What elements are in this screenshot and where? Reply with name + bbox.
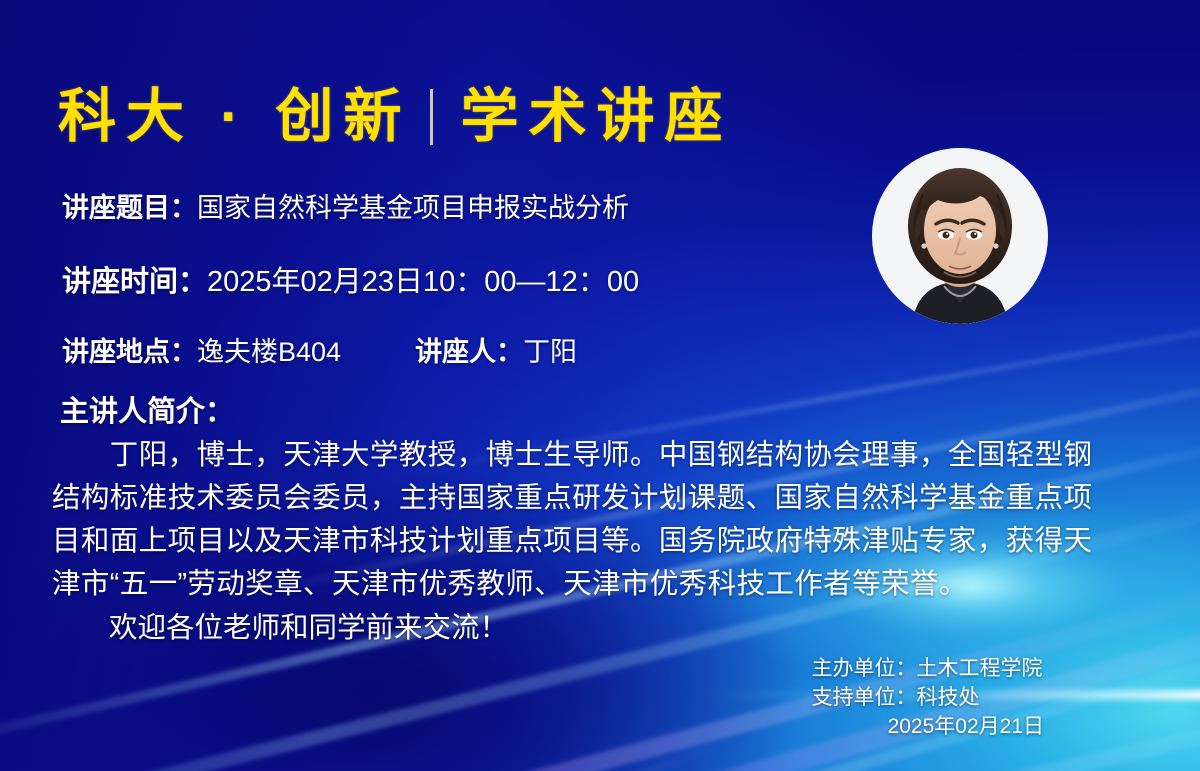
bio-line: 结构标准技术委员会委员，主持国家重点研发计划课题、国家自然科学基金重点项 [52, 477, 1162, 520]
speaker-portrait [872, 148, 1048, 324]
poster-title: 科大 · 创新 学术讲座 [58, 78, 733, 156]
lecture-time-value: 2025年02月23日10：00—12：00 [207, 266, 639, 298]
lecture-poster: 科大 · 创新 学术讲座 讲座题目：国家自然科学基金项目申报实战分析 讲座时间：… [0, 0, 1200, 771]
footer-date: 2025年02月21日 [812, 712, 1044, 741]
title-sub-text: 学术讲座 [461, 88, 733, 146]
lecture-place-value: 逸夫楼B404 [197, 337, 341, 367]
footer-organizer: 主办单位：土木工程学院 [812, 654, 1044, 683]
speaker-bio-heading: 主讲人简介： [60, 388, 234, 430]
title-separator-icon [430, 89, 433, 145]
lecture-topic-value: 国家自然科学基金项目申报实战分析 [197, 193, 629, 223]
lecture-topic-row: 讲座题目：国家自然科学基金项目申报实战分析 [62, 186, 629, 225]
title-main-text: 科大 · 创新 [58, 88, 412, 146]
poster-footer: 主办单位：土木工程学院 支持单位：科技处 2025年02月21日 [812, 654, 1044, 741]
lecture-time-row: 讲座时间：2025年02月23日10：00—12：00 [62, 258, 639, 300]
footer-supporter: 支持单位：科技处 [812, 683, 1044, 712]
portrait-illustration [872, 148, 1048, 324]
lecture-time-label: 讲座时间： [62, 266, 207, 298]
bio-line: 津市“五一”劳动奖章、天津市优秀教师、天津市优秀科技工作者等荣誉。 [52, 563, 1162, 606]
welcome-message: 欢迎各位老师和同学前来交流！ [52, 607, 508, 650]
bio-line: 目和面上项目以及天津市科技计划重点项目等。国务院政府特殊津贴专家，获得天 [52, 520, 1162, 563]
speaker-bio-body: 丁阳，博士，天津大学教授，博士生导师。中国钢结构协会理事，全国轻型钢 结构标准技… [52, 434, 1162, 606]
lecture-place-label: 讲座地点： [62, 337, 197, 367]
lecture-topic-label: 讲座题目： [62, 193, 197, 223]
lecture-speaker-label: 讲座人： [415, 337, 523, 367]
bio-line: 丁阳，博士，天津大学教授，博士生导师。中国钢结构协会理事，全国轻型钢 [52, 434, 1162, 477]
lecture-place-row: 讲座地点：逸夫楼B404讲座人：丁阳 [62, 330, 577, 369]
lecture-speaker-value: 丁阳 [523, 337, 577, 367]
